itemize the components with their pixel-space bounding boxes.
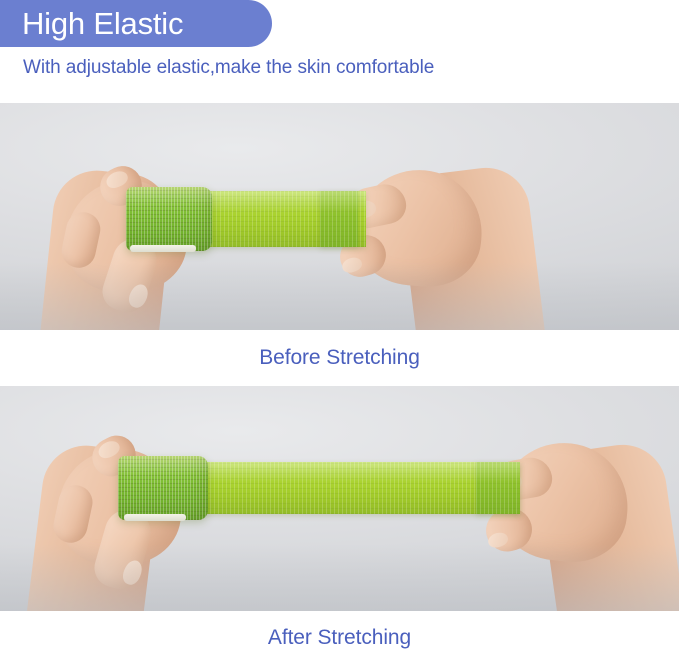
caption-before-text: Before Stretching [259,346,420,369]
tape-roll-core-after [124,514,186,521]
tape-roll-core-before [130,245,196,252]
tape-roll-after [118,456,208,520]
title-badge: High Elastic [0,0,272,47]
tape-grip-band-before [320,191,358,247]
caption-before: Before Stretching [0,330,679,386]
product-photo-before [0,103,679,330]
tape-roll-before [126,187,212,251]
header: High Elastic With adjustable elastic,mak… [0,0,679,103]
caption-after: After Stretching [0,611,679,653]
title-badge-label: High Elastic [0,8,183,39]
subtitle-text: With adjustable elastic,make the skin co… [23,57,434,79]
tape-grip-band-after [476,462,520,514]
caption-after-text: After Stretching [268,626,411,649]
photo-panel-before [0,103,679,330]
photo-panel-after [0,386,679,611]
product-photo-after [0,386,679,611]
tape-strip-after [190,462,520,514]
